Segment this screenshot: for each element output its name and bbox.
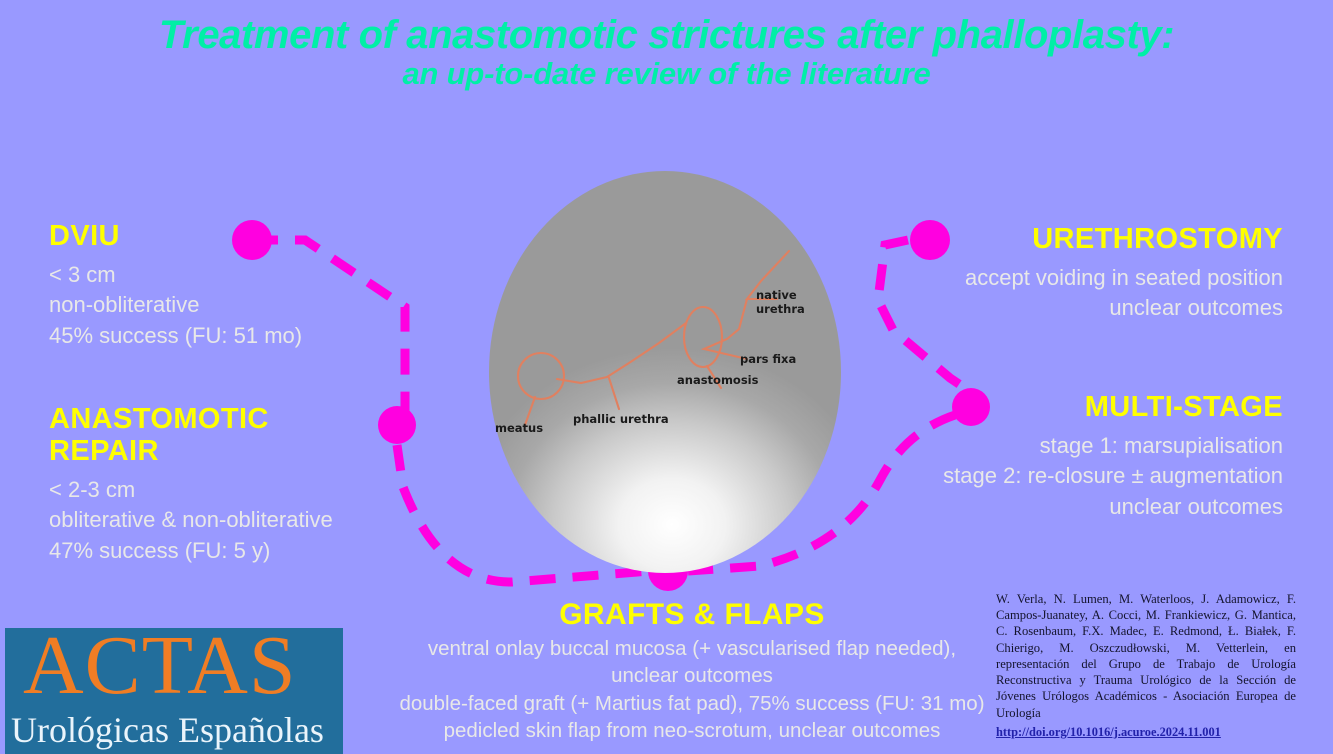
page-title: Treatment of anastomotic strictures afte… bbox=[0, 14, 1333, 91]
block-anastomotic-repair-line-3: 47% success (FU: 5 y) bbox=[49, 536, 333, 566]
urethrogram-annotation-lines bbox=[489, 171, 841, 573]
actas-journal-logo: ACTAS Urológicas Españolas bbox=[5, 628, 343, 754]
urethrogram-image: native urethra pars fixa anastomosis pha… bbox=[489, 171, 841, 573]
block-urethrostomy-line-1: accept voiding in seated position bbox=[853, 263, 1283, 293]
block-dviu-heading: DVIU bbox=[49, 221, 302, 253]
citation-doi-link[interactable]: http://doi.org/10.1016/j.acuroe.2024.11.… bbox=[996, 724, 1296, 740]
block-anastomotic-repair-line-1: < 2-3 cm bbox=[49, 475, 333, 505]
block-urethrostomy: URETHROSTOMY accept voiding in seated po… bbox=[853, 224, 1283, 324]
block-multi-stage-line-3: unclear outcomes bbox=[833, 492, 1283, 522]
title-main-line: Treatment of anastomotic strictures afte… bbox=[0, 14, 1333, 56]
block-grafts-flaps-line-2: double-faced graft (+ Martius fat pad), … bbox=[392, 690, 992, 717]
block-anastomotic-repair-heading: ANASTOMOTIC REPAIR bbox=[49, 404, 333, 468]
block-anastomotic-repair: ANASTOMOTIC REPAIR < 2-3 cm obliterative… bbox=[49, 404, 333, 566]
block-dviu: DVIU < 3 cm non-obliterative 45% success… bbox=[49, 221, 302, 351]
xray-label-native-urethra-line2: urethra bbox=[756, 302, 805, 316]
block-urethrostomy-line-2: unclear outcomes bbox=[853, 293, 1283, 323]
block-grafts-flaps: GRAFTS & FLAPS ventral onlay buccal muco… bbox=[392, 598, 992, 744]
infographic-poster: Treatment of anastomotic strictures afte… bbox=[0, 0, 1333, 754]
xray-label-meatus: meatus bbox=[495, 422, 543, 436]
block-anastomotic-repair-line-2: obliterative & non-obliterative bbox=[49, 505, 333, 535]
xray-label-anastomosis: anastomosis bbox=[677, 374, 758, 388]
actas-logo-subtitle: Urológicas Españolas bbox=[11, 712, 324, 748]
block-anastomotic-repair-heading-line2: REPAIR bbox=[49, 435, 159, 467]
xray-label-phallic-urethra: phallic urethra bbox=[573, 413, 669, 427]
block-anastomotic-repair-heading-line1: ANASTOMOTIC bbox=[49, 403, 269, 435]
block-grafts-flaps-line-1: ventral onlay buccal mucosa (+ vasculari… bbox=[392, 635, 992, 690]
block-dviu-line-1: < 3 cm bbox=[49, 260, 302, 290]
citation-block: W. Verla, N. Lumen, M. Waterloos, J. Ada… bbox=[996, 591, 1296, 740]
title-subtitle-line: an up-to-date review of the literature bbox=[0, 58, 1333, 91]
node-anastomotic-repair[interactable] bbox=[378, 406, 416, 444]
block-dviu-line-3: 45% success (FU: 51 mo) bbox=[49, 321, 302, 351]
actas-logo-title: ACTAS bbox=[23, 628, 297, 708]
block-multi-stage-line-1: stage 1: marsupialisation bbox=[833, 431, 1283, 461]
block-multi-stage-heading: MULTI-STAGE bbox=[833, 392, 1283, 424]
block-grafts-flaps-line-3: pedicled skin flap from neo-scrotum, unc… bbox=[392, 717, 992, 744]
xray-label-native-urethra-line1: native bbox=[756, 288, 797, 302]
citation-authors: W. Verla, N. Lumen, M. Waterloos, J. Ada… bbox=[996, 592, 1296, 720]
block-multi-stage-line-2: stage 2: re-closure ± augmentation bbox=[833, 461, 1283, 491]
xray-label-pars-fixa: pars fixa bbox=[740, 353, 796, 367]
block-urethrostomy-heading: URETHROSTOMY bbox=[853, 224, 1283, 256]
block-dviu-line-2: non-obliterative bbox=[49, 290, 302, 320]
block-multi-stage: MULTI-STAGE stage 1: marsupialisation st… bbox=[833, 392, 1283, 522]
xray-label-native-urethra: native urethra bbox=[756, 289, 805, 316]
block-grafts-flaps-heading: GRAFTS & FLAPS bbox=[392, 598, 992, 631]
